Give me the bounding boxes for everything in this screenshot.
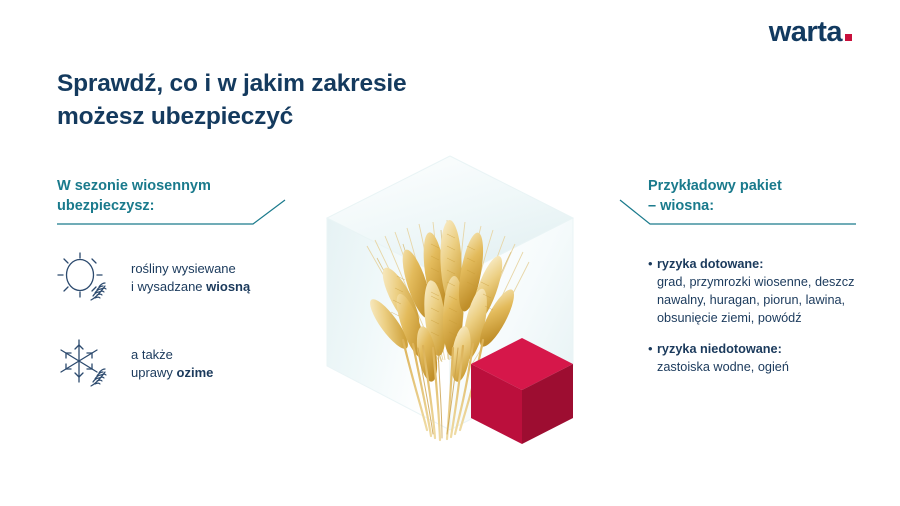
feature-item-spring-crops: rośliny wysiewane i wysadzane wiosną (55, 248, 250, 308)
feature-line-2-prefix: uprawy (131, 365, 177, 380)
feature-item-winter-crops: a także uprawy ozime (55, 334, 213, 394)
list-item-label: ryzyka niedotowane: (657, 340, 789, 358)
feature-line-2-prefix: i wysadzane (131, 279, 206, 294)
feature-line-2-strong: ozime (177, 365, 214, 380)
logo-wordmark: warta (769, 18, 842, 47)
left-column-heading: W sezonie wiosennym ubezpieczysz: (57, 177, 211, 216)
snowflake-with-wheat-ear-icon (55, 334, 117, 394)
feature-line-1: a także (131, 347, 173, 362)
feature-item-label: a także uprawy ozime (131, 346, 213, 382)
right-column-heading: Przykładowy pakiet – wiosna: (648, 177, 782, 216)
list-item-values: grad, przymrozki wiosenne, deszcz nawaln… (657, 273, 863, 327)
ice-cube-illustration (285, 148, 625, 453)
list-item-body: ryzyka niedotowane: zastoiska wodne, ogi… (657, 340, 789, 376)
list-item-body: ryzyka dotowane: grad, przymrozki wiosen… (657, 255, 863, 327)
list-item: • ryzyka dotowane: grad, przymrozki wios… (648, 255, 863, 327)
logo-dot-icon (845, 34, 852, 41)
bullet-icon: • (648, 255, 657, 327)
sun-with-wheat-ear-icon (55, 248, 117, 308)
list-item-values: zastoiska wodne, ogień (657, 358, 789, 376)
page-title: Sprawdź, co i w jakim zakresie możesz ub… (57, 68, 406, 133)
list-item: • ryzyka niedotowane: zastoiska wodne, o… (648, 340, 863, 376)
feature-line-1: rośliny wysiewane (131, 261, 236, 276)
feature-item-label: rośliny wysiewane i wysadzane wiosną (131, 260, 250, 296)
list-item-label: ryzyka dotowane: (657, 255, 863, 273)
package-risk-list: • ryzyka dotowane: grad, przymrozki wios… (648, 255, 863, 389)
warta-logo: warta (769, 18, 852, 47)
bullet-icon: • (648, 340, 657, 376)
feature-line-2-strong: wiosną (206, 279, 250, 294)
